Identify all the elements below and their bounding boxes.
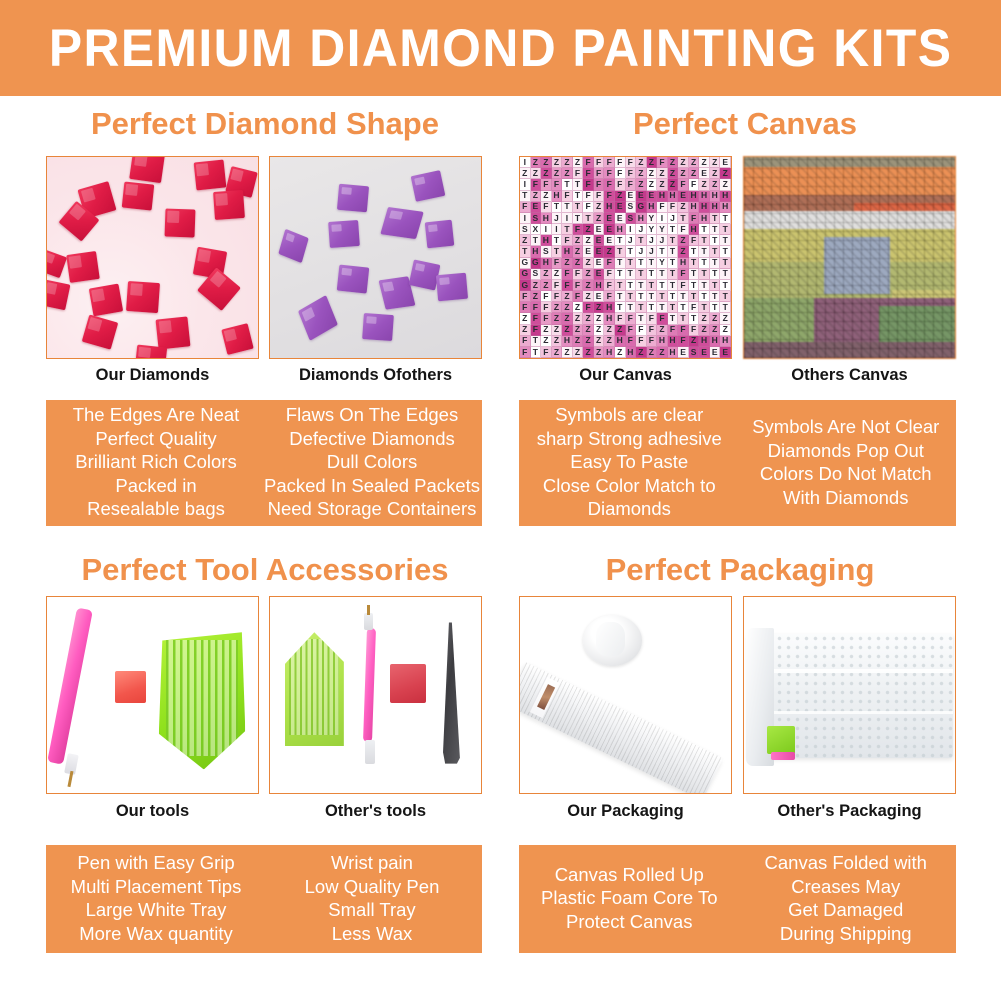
canvas-symbol-cell: T	[720, 280, 731, 291]
canvas-symbol-cell: Z	[594, 302, 605, 313]
canvas-symbol-cell: F	[562, 269, 573, 280]
canvas-symbol-cell: F	[583, 157, 594, 168]
photo-our-diamonds	[46, 156, 259, 359]
canvas-symbol-cell: Z	[531, 291, 542, 302]
canvas-symbol-cell: T	[626, 269, 637, 280]
canvas-symbol-cell: H	[604, 313, 615, 324]
canvas-symbol-cell: F	[626, 336, 637, 347]
canvas-symbol-cell: F	[678, 269, 689, 280]
canvas-symbol-cell: Z	[573, 246, 584, 257]
canvas-symbol-cell: Z	[583, 347, 594, 358]
canvas-symbol-cell: T	[636, 269, 647, 280]
canvas-symbol-cell: Z	[657, 179, 668, 190]
canvas-symbol-cell: I	[657, 213, 668, 224]
canvas-symbol-cell: F	[657, 313, 668, 324]
canvas-symbol-cell: T	[573, 202, 584, 213]
canvas-symbol-cell: G	[520, 280, 531, 291]
canvas-symbol-cell: Z	[678, 168, 689, 179]
canvas-symbol-cell: F	[636, 325, 647, 336]
canvas-symbol-cell: T	[668, 224, 679, 235]
caption-others-packaging: Other's Packaging	[743, 802, 956, 821]
canvas-symbol-cell: T	[626, 291, 637, 302]
canvas-symbol-cell: H	[647, 202, 658, 213]
canvas-symbol-cell: T	[699, 235, 710, 246]
canvas-symbol-cell: Z	[541, 168, 552, 179]
canvas-symbol-cell: F	[615, 179, 626, 190]
canvas-symbol-cell: Z	[562, 258, 573, 269]
canvas-symbol-cell: Z	[562, 168, 573, 179]
canvas-symbol-cell: Z	[615, 347, 626, 358]
canvas-symbol-cell: H	[636, 213, 647, 224]
canvas-symbol-cell: Z	[520, 235, 531, 246]
canvas-symbol-cell: T	[720, 246, 731, 257]
canvas-symbol-cell: E	[594, 224, 605, 235]
canvas-symbol-cell: Z	[720, 168, 731, 179]
canvas-symbol-cell: X	[531, 224, 542, 235]
canvas-symbol-cell: T	[699, 302, 710, 313]
canvas-symbol-cell: T	[720, 291, 731, 302]
canvas-symbol-cell: F	[689, 235, 700, 246]
canvas-symbol-cell: E	[710, 347, 721, 358]
canvas-symbol-cell: H	[689, 224, 700, 235]
canvas-symbol-cell: Z	[573, 325, 584, 336]
canvas-symbol-cell: Z	[594, 325, 605, 336]
canvas-symbol-cell: F	[520, 291, 531, 302]
canvas-symbol-cell: F	[604, 191, 615, 202]
canvas-symbol-cell: F	[657, 157, 668, 168]
canvas-symbol-cell: E	[647, 191, 658, 202]
canvas-symbol-cell: Z	[657, 325, 668, 336]
canvas-symbol-cell: I	[541, 224, 552, 235]
canvas-symbol-cell: H	[657, 191, 668, 202]
canvas-symbol-cell: H	[710, 336, 721, 347]
canvas-symbol-cell: Z	[678, 202, 689, 213]
canvas-symbol-cell: T	[636, 235, 647, 246]
canvas-symbol-cell: Z	[583, 224, 594, 235]
pink-pen	[363, 628, 376, 742]
canvas-symbol-cell: F	[520, 336, 531, 347]
canvas-symbol-cell: T	[531, 347, 542, 358]
photo-our-canvas: IZZZZZFFFFFZZFZZZZZEZZZZZFFFFFFZZZZZZEZZ…	[519, 156, 732, 359]
pen-metal-tip	[367, 605, 370, 615]
canvas-symbol-cell: Z	[520, 325, 531, 336]
canvas-symbol-cell: T	[626, 302, 637, 313]
canvas-symbol-cell: H	[615, 336, 626, 347]
canvas-symbol-cell: H	[710, 191, 721, 202]
canvas-symbol-cell: J	[636, 246, 647, 257]
canvas-symbol-cell: Z	[531, 280, 542, 291]
canvas-symbol-cell: Z	[594, 347, 605, 358]
canvas-symbol-cell: Z	[647, 179, 658, 190]
canvas-symbol-cell: Z	[604, 336, 615, 347]
canvas-symbol-cell: F	[668, 202, 679, 213]
canvas-symbol-cell: F	[647, 313, 658, 324]
canvas-symbol-cell: F	[552, 280, 563, 291]
canvas-symbol-cell: F	[562, 280, 573, 291]
canvas-symbol-cell: Z	[562, 302, 573, 313]
canvas-symbol-cell: E	[699, 347, 710, 358]
canvas-symbol-cell: T	[689, 258, 700, 269]
canvas-symbol-cell: F	[583, 168, 594, 179]
canvas-symbol-cell: J	[657, 235, 668, 246]
canvas-symbol-cell: H	[720, 191, 731, 202]
canvas-symbol-cell: Z	[604, 325, 615, 336]
canvas-symbol-cell: Z	[552, 157, 563, 168]
canvas-symbol-cell: Y	[647, 224, 658, 235]
red-wax-square	[390, 664, 426, 703]
canvas-symbol-cell: J	[668, 213, 679, 224]
canvas-symbol-cell: T	[668, 280, 679, 291]
canvas-symbol-cell: F	[541, 179, 552, 190]
canvas-symbol-cell: F	[604, 280, 615, 291]
canvas-symbol-cell: Z	[583, 258, 594, 269]
infobox-col-others: Flaws On The Edges Defective Diamonds Du…	[264, 406, 480, 518]
caption-others-tools: Other's tools	[269, 802, 482, 821]
section-title-tools: Perfect Tool Accessories	[30, 552, 500, 588]
canvas-symbol-cell: T	[636, 280, 647, 291]
canvas-symbol-cell: Z	[573, 347, 584, 358]
caption-our-canvas: Our Canvas	[519, 366, 732, 385]
canvas-symbol-cell: H	[668, 191, 679, 202]
canvas-symbol-cell: S	[626, 213, 637, 224]
canvas-symbol-cell: H	[699, 336, 710, 347]
canvas-symbol-cell: T	[678, 313, 689, 324]
canvas-symbol-cell: S	[689, 347, 700, 358]
infobox-col-ours: Pen with Easy Grip Multi Placement Tips …	[48, 851, 264, 945]
canvas-symbol-cell: T	[657, 269, 668, 280]
canvas-symbol-cell: E	[678, 191, 689, 202]
canvas-symbol-cell: H	[562, 336, 573, 347]
tray-ribs	[289, 639, 339, 735]
canvas-symbol-cell: F	[573, 224, 584, 235]
canvas-symbol-cell: T	[710, 258, 721, 269]
canvas-symbol-cell: T	[720, 224, 731, 235]
canvas-symbol-cell: J	[626, 235, 637, 246]
canvas-symbol-cell: T	[531, 235, 542, 246]
section-title-canvas: Perfect Canvas	[520, 106, 970, 142]
canvas-symbol-cell: T	[562, 202, 573, 213]
canvas-symbol-cell: H	[604, 302, 615, 313]
canvas-symbol-cell: H	[594, 280, 605, 291]
canvas-symbol-cell: Z	[562, 313, 573, 324]
canvas-symbol-cell: T	[626, 246, 637, 257]
canvas-symbol-cell: H	[531, 246, 542, 257]
canvas-symbol-cell: I	[562, 213, 573, 224]
canvas-symbol-cell: F	[520, 347, 531, 358]
canvas-symbol-cell: H	[552, 191, 563, 202]
canvas-symbol-cell: F	[583, 191, 594, 202]
canvas-symbol-cell: T	[626, 258, 637, 269]
canvas-symbol-cell: Z	[720, 313, 731, 324]
canvas-symbol-cell: S	[531, 213, 542, 224]
canvas-symbol-cell: T	[689, 280, 700, 291]
canvas-symbol-cell: T	[615, 258, 626, 269]
canvas-symbol-cell: F	[583, 202, 594, 213]
canvas-symbol-cell: F	[562, 191, 573, 202]
canvas-symbol-cell: T	[626, 280, 637, 291]
canvas-symbol-cell: Z	[552, 168, 563, 179]
canvas-symbol-cell: T	[562, 224, 573, 235]
canvas-symbol-cell: H	[541, 213, 552, 224]
canvas-symbol-cell: H	[626, 347, 637, 358]
infobox-col-ours: The Edges Are Neat Perfect Quality Brill…	[48, 406, 264, 518]
canvas-symbol-cell: G	[520, 258, 531, 269]
canvas-symbol-cell: Z	[647, 347, 658, 358]
canvas-symbol-cell: T	[552, 202, 563, 213]
canvas-symbol-cell: Z	[573, 336, 584, 347]
canvas-symbol-cell: T	[668, 313, 679, 324]
canvas-symbol-cell: Z	[710, 168, 721, 179]
canvas-symbol-cell: T	[583, 213, 594, 224]
canvas-symbol-cell: T	[710, 235, 721, 246]
canvas-symbol-cell: H	[710, 202, 721, 213]
canvas-symbol-cell: Z	[541, 280, 552, 291]
caption-our-diamonds: Our Diamonds	[46, 366, 259, 385]
canvas-symbol-cell: T	[699, 291, 710, 302]
canvas-symbol-cell: E	[626, 191, 637, 202]
canvas-symbol-cell: Z	[552, 313, 563, 324]
canvas-symbol-cell: F	[562, 235, 573, 246]
photo-our-tools	[46, 596, 259, 794]
canvas-symbol-cell: Z	[594, 313, 605, 324]
canvas-symbol-cell: Z	[583, 291, 594, 302]
canvas-symbol-cell: T	[668, 258, 679, 269]
canvas-symbol-cell: Z	[689, 168, 700, 179]
canvas-symbol-cell: T	[678, 302, 689, 313]
pen-cap-end	[365, 740, 375, 764]
infobox-col-others: Symbols Are Not Clear Diamonds Pop Out C…	[738, 406, 955, 518]
canvas-symbol-cell: T	[615, 302, 626, 313]
infobox-canvas: Symbols are clear sharp Strong adhesive …	[519, 400, 956, 526]
canvas-symbol-cell: T	[573, 191, 584, 202]
canvas-symbol-cell: Z	[562, 291, 573, 302]
canvas-symbol-cell: Y	[657, 224, 668, 235]
canvas-symbol-cell: F	[552, 258, 563, 269]
canvas-symbol-cell: I	[626, 224, 637, 235]
canvas-symbol-cell: Z	[583, 280, 594, 291]
canvas-symbol-cell: H	[699, 191, 710, 202]
canvas-symbol-cell: Z	[689, 157, 700, 168]
canvas-symbol-cell: Z	[552, 302, 563, 313]
canvas-symbol-cell: F	[541, 313, 552, 324]
canvas-symbol-cell: G	[636, 202, 647, 213]
canvas-symbol-cell: E	[531, 202, 542, 213]
canvas-symbol-cell: Z	[668, 179, 679, 190]
canvas-symbol-cell: F	[573, 269, 584, 280]
canvas-symbol-cell: Z	[636, 157, 647, 168]
canvas-symbol-cell: Z	[647, 168, 658, 179]
canvas-symbol-cell: T	[710, 246, 721, 257]
canvas-symbol-cell: F	[541, 291, 552, 302]
canvas-symbol-cell: Z	[531, 191, 542, 202]
canvas-symbol-cell: Y	[647, 213, 658, 224]
green-tray-inside	[767, 726, 794, 753]
canvas-symbol-cell: T	[699, 280, 710, 291]
photo-others-tools	[269, 596, 482, 794]
pink-pen-inside	[771, 752, 794, 760]
canvas-symbol-cell: Z	[583, 235, 594, 246]
canvas-symbol-cell: Z	[678, 235, 689, 246]
canvas-symbol-cell: T	[657, 280, 668, 291]
canvas-symbol-cell: G	[531, 258, 542, 269]
caption-others-canvas: Others Canvas	[743, 366, 956, 385]
canvas-symbol-cell: E	[636, 191, 647, 202]
canvas-symbol-cell: T	[710, 302, 721, 313]
canvas-symbol-cell: T	[636, 302, 647, 313]
canvas-symbol-cell: H	[562, 246, 573, 257]
canvas-symbol-cell: T	[710, 213, 721, 224]
canvas-symbol-cell: Z	[615, 325, 626, 336]
canvas-symbol-cell: F	[552, 291, 563, 302]
white-tube	[519, 662, 723, 794]
infobox-col-ours: Canvas Rolled Up Plastic Foam Core To Pr…	[521, 851, 738, 945]
canvas-symbol-cell: F	[531, 325, 542, 336]
canvas-symbol-cell: T	[710, 269, 721, 280]
canvas-symbol-cell: T	[689, 291, 700, 302]
canvas-symbol-cell: H	[689, 202, 700, 213]
infobox-packaging: Canvas Rolled Up Plastic Foam Core To Pr…	[519, 845, 956, 953]
pink-pen	[47, 607, 92, 764]
pen-metal-tip	[67, 771, 73, 787]
red-wax-square	[115, 671, 147, 702]
canvas-symbol-cell: F	[636, 336, 647, 347]
canvas-symbol-cell: F	[583, 302, 594, 313]
canvas-symbol-cell: E	[594, 269, 605, 280]
canvas-symbol-cell: Z	[573, 313, 584, 324]
tweezers	[439, 622, 460, 763]
canvas-symbol-cell: T	[720, 302, 731, 313]
canvas-symbol-cell: E	[678, 347, 689, 358]
canvas-symbol-cell: T	[689, 313, 700, 324]
canvas-symbol-cell: Z	[573, 235, 584, 246]
canvas-symbol-cell: F	[531, 179, 542, 190]
canvas-symbol-cell: T	[657, 291, 668, 302]
canvas-symbol-cell: F	[604, 291, 615, 302]
canvas-texture-overlay	[744, 157, 955, 358]
canvas-symbol-cell: F	[594, 179, 605, 190]
canvas-symbol-cell: Z	[573, 258, 584, 269]
photo-others-diamonds	[269, 156, 482, 359]
canvas-symbol-cell: E	[604, 213, 615, 224]
canvas-symbol-cell: E	[583, 246, 594, 257]
canvas-symbol-cell: F	[626, 168, 637, 179]
canvas-symbol-cell: F	[594, 168, 605, 179]
canvas-symbol-cell: F	[541, 347, 552, 358]
canvas-symbol-cell: H	[604, 347, 615, 358]
canvas-symbol-cell: Z	[541, 325, 552, 336]
canvas-symbol-cell: T	[552, 246, 563, 257]
canvas-symbol-cell: F	[626, 325, 637, 336]
canvas-symbol-cell: Z	[699, 157, 710, 168]
canvas-symbol-cell: F	[604, 168, 615, 179]
canvas-symbol-cell: F	[573, 280, 584, 291]
page-title: PREMIUM DIAMOND PAINTING KITS	[49, 18, 953, 79]
canvas-symbol-cell: Z	[668, 157, 679, 168]
canvas-symbol-cell: E	[594, 235, 605, 246]
canvas-symbol-cell: F	[531, 302, 542, 313]
canvas-symbol-cell: Z	[541, 269, 552, 280]
canvas-symbol-cell: T	[668, 235, 679, 246]
canvas-symbol-cell: T	[636, 313, 647, 324]
canvas-symbol-cell: I	[552, 224, 563, 235]
infographic-root: PREMIUM DIAMOND PAINTING KITS Perfect Di…	[0, 0, 1001, 1001]
canvas-symbol-cell: Z	[562, 347, 573, 358]
canvas-symbol-cell: G	[520, 269, 531, 280]
canvas-symbol-cell: Z	[689, 336, 700, 347]
canvas-symbol-cell: Z	[594, 336, 605, 347]
canvas-symbol-cell: F	[520, 202, 531, 213]
canvas-symbol-cell: T	[636, 291, 647, 302]
section-title-packaging: Perfect Packaging	[510, 552, 970, 588]
canvas-symbol-cell: F	[678, 325, 689, 336]
canvas-symbol-cell: Z	[657, 168, 668, 179]
canvas-symbol-cell: T	[720, 235, 731, 246]
infobox-tools: Pen with Easy Grip Multi Placement Tips …	[46, 845, 482, 953]
canvas-symbol-cell: Z	[552, 347, 563, 358]
canvas-symbol-cell: H	[699, 213, 710, 224]
canvas-symbol-cell: F	[626, 157, 637, 168]
canvas-symbol-cell: Z	[720, 179, 731, 190]
canvas-symbol-cell: T	[562, 179, 573, 190]
canvas-symbol-cell: Z	[699, 313, 710, 324]
canvas-symbol-cell: T	[699, 246, 710, 257]
canvas-symbol-cell: Z	[573, 302, 584, 313]
canvas-symbol-cell: E	[699, 168, 710, 179]
canvas-symbol-cell: Z	[552, 269, 563, 280]
canvas-symbol-cell: F	[604, 157, 615, 168]
canvas-symbol-cell: Z	[710, 325, 721, 336]
canvas-symbol-cell: Z	[541, 157, 552, 168]
canvas-symbol-cell: Z	[583, 336, 594, 347]
canvas-symbol-cell: Z	[636, 168, 647, 179]
canvas-symbol-cell: I	[520, 157, 531, 168]
infobox-col-ours: Symbols are clear sharp Strong adhesive …	[521, 406, 738, 518]
section-title-diamond-shape: Perfect Diamond Shape	[30, 106, 500, 142]
canvas-symbol-cell: S	[531, 269, 542, 280]
canvas-symbol-cell: J	[552, 213, 563, 224]
canvas-symbol-cell: I	[520, 179, 531, 190]
canvas-symbol-cell: Z	[594, 202, 605, 213]
canvas-symbol-cell: Z	[604, 246, 615, 257]
canvas-symbol-cell: S	[541, 246, 552, 257]
canvas-symbol-cell: T	[520, 246, 531, 257]
canvas-symbol-cell: Z	[678, 157, 689, 168]
canvas-symbol-cell: T	[720, 213, 731, 224]
canvas-symbol-cell: Z	[541, 191, 552, 202]
canvas-symbol-cell: F	[615, 157, 626, 168]
canvas-symbol-cell: Z	[573, 157, 584, 168]
canvas-symbol-cell: Z	[678, 246, 689, 257]
canvas-symbol-cell: H	[720, 202, 731, 213]
canvas-symbol-cell: H	[657, 336, 668, 347]
canvas-symbol-cell: H	[689, 191, 700, 202]
canvas-symbol-cell: T	[668, 269, 679, 280]
canvas-symbol-cell: J	[647, 235, 658, 246]
canvas-symbol-cell: Z	[720, 325, 731, 336]
photo-others-canvas	[743, 156, 956, 359]
canvas-symbol-cell: Z	[647, 157, 658, 168]
canvas-symbol-cell: I	[520, 213, 531, 224]
canvas-symbol-cell: T	[699, 269, 710, 280]
canvas-symbol-cell: T	[647, 258, 658, 269]
canvas-symbol-cell: F	[647, 325, 658, 336]
canvas-symbol-cell: F	[531, 313, 542, 324]
canvas-symbol-cell: T	[689, 269, 700, 280]
canvas-symbol-cell: F	[604, 258, 615, 269]
canvas-symbol-cell: Z	[657, 347, 668, 358]
canvas-symbol-cell: T	[657, 246, 668, 257]
canvas-symbol-cell: Z	[531, 168, 542, 179]
